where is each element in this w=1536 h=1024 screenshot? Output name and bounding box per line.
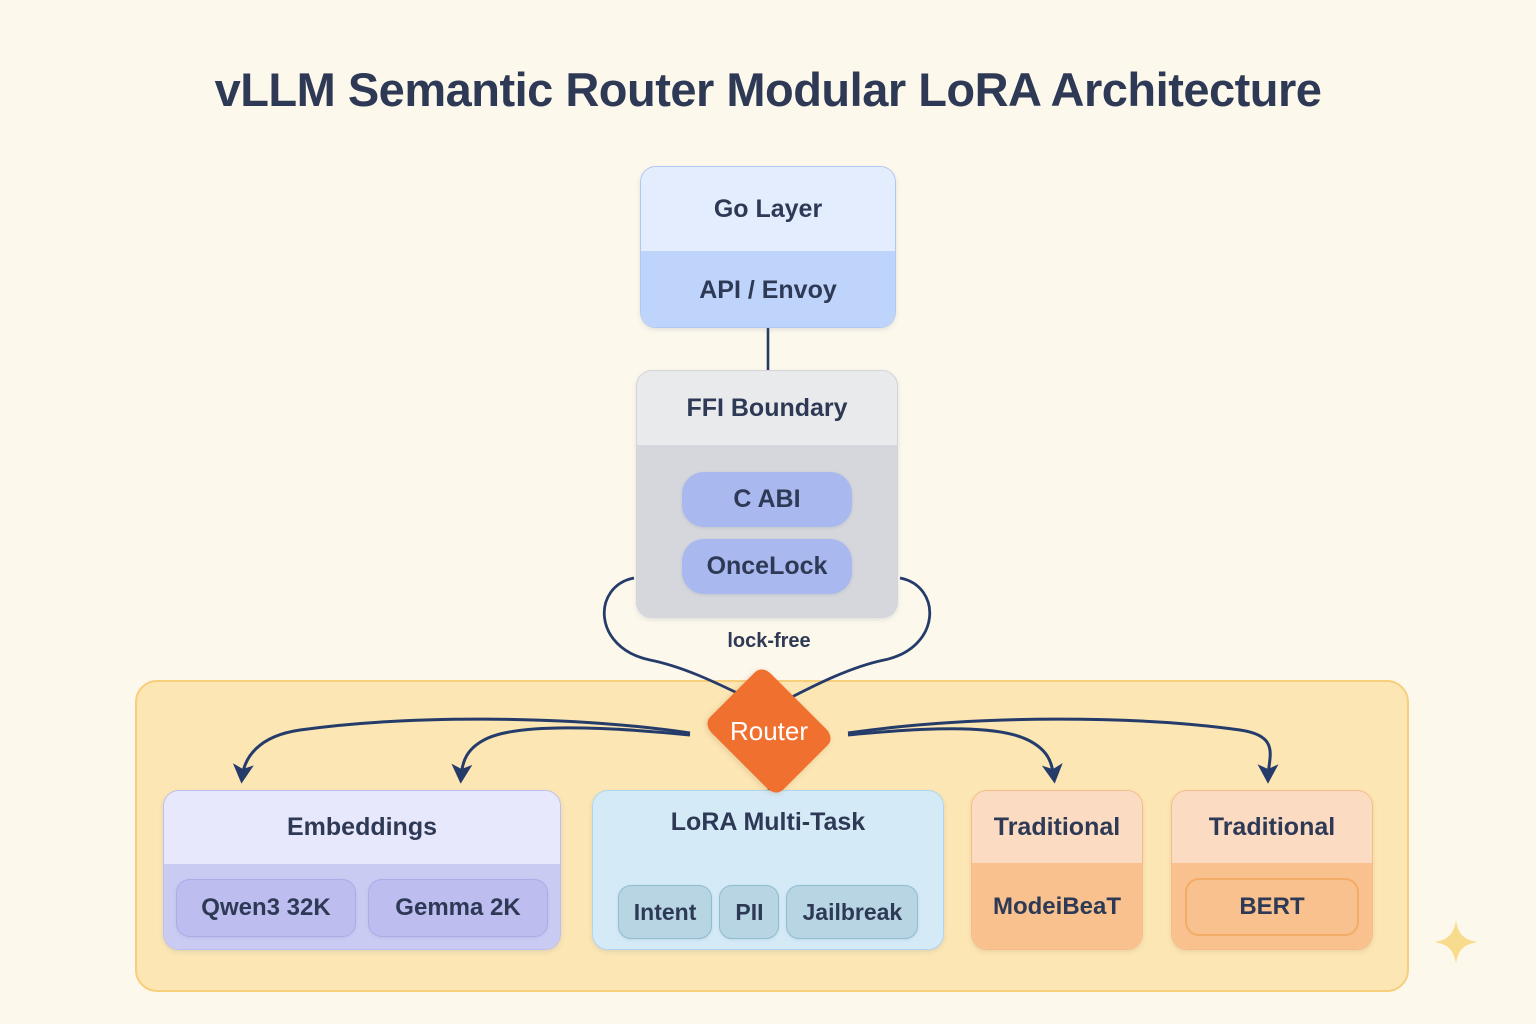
embeddings-item-gemma[interactable]: Gemma 2K <box>368 879 548 937</box>
traditional-modernbert-card[interactable]: Traditional ModeiBeaT <box>971 790 1143 950</box>
embeddings-card[interactable]: Embeddings Qwen3 32K Gemma 2K <box>163 790 561 950</box>
lock-free-label: lock-free <box>694 630 844 653</box>
ffi-boundary-card[interactable]: FFI Boundary C ABI OnceLock <box>636 370 898 618</box>
ffi-item-c-abi[interactable]: C ABI <box>682 472 852 527</box>
page-title: vLLM Semantic Router Modular LoRA Archit… <box>0 62 1536 117</box>
embeddings-item-qwen3[interactable]: Qwen3 32K <box>176 879 356 937</box>
embeddings-body: Qwen3 32K Gemma 2K <box>164 864 560 950</box>
lora-item-intent[interactable]: Intent <box>618 885 713 939</box>
go-layer-card[interactable]: Go Layer API / Envoy <box>640 166 896 328</box>
embeddings-header: Embeddings <box>164 791 560 864</box>
router-label: Router <box>684 680 854 782</box>
traditional-modernbert-header: Traditional <box>972 791 1142 863</box>
lora-multitask-card[interactable]: LoRA Multi-Task Intent PII Jailbreak <box>592 790 944 950</box>
traditional-item-bert[interactable]: BERT <box>1185 878 1359 936</box>
traditional-item-modernbert: ModeiBeaT <box>993 893 1121 921</box>
go-layer-body: API / Envoy <box>641 251 895 328</box>
ffi-boundary-body: C ABI OnceLock <box>637 445 897 618</box>
router-node[interactable]: Router <box>684 680 854 782</box>
traditional-bert-header: Traditional <box>1172 791 1372 863</box>
traditional-bert-body: BERT <box>1172 863 1372 950</box>
lora-item-pii[interactable]: PII <box>719 885 779 939</box>
ffi-boundary-header: FFI Boundary <box>637 371 897 445</box>
lora-multitask-body: Intent PII Jailbreak <box>593 853 943 950</box>
traditional-bert-card[interactable]: Traditional BERT <box>1171 790 1373 950</box>
lora-item-jailbreak[interactable]: Jailbreak <box>786 885 918 939</box>
sparkle-icon <box>1432 918 1480 966</box>
go-layer-header: Go Layer <box>641 167 895 251</box>
traditional-modernbert-body: ModeiBeaT <box>972 863 1142 950</box>
diagram-canvas: vLLM Semantic Router Modular LoRA Archit… <box>0 0 1536 1024</box>
ffi-item-oncelock[interactable]: OnceLock <box>682 539 852 594</box>
lora-multitask-header: LoRA Multi-Task <box>593 791 943 853</box>
